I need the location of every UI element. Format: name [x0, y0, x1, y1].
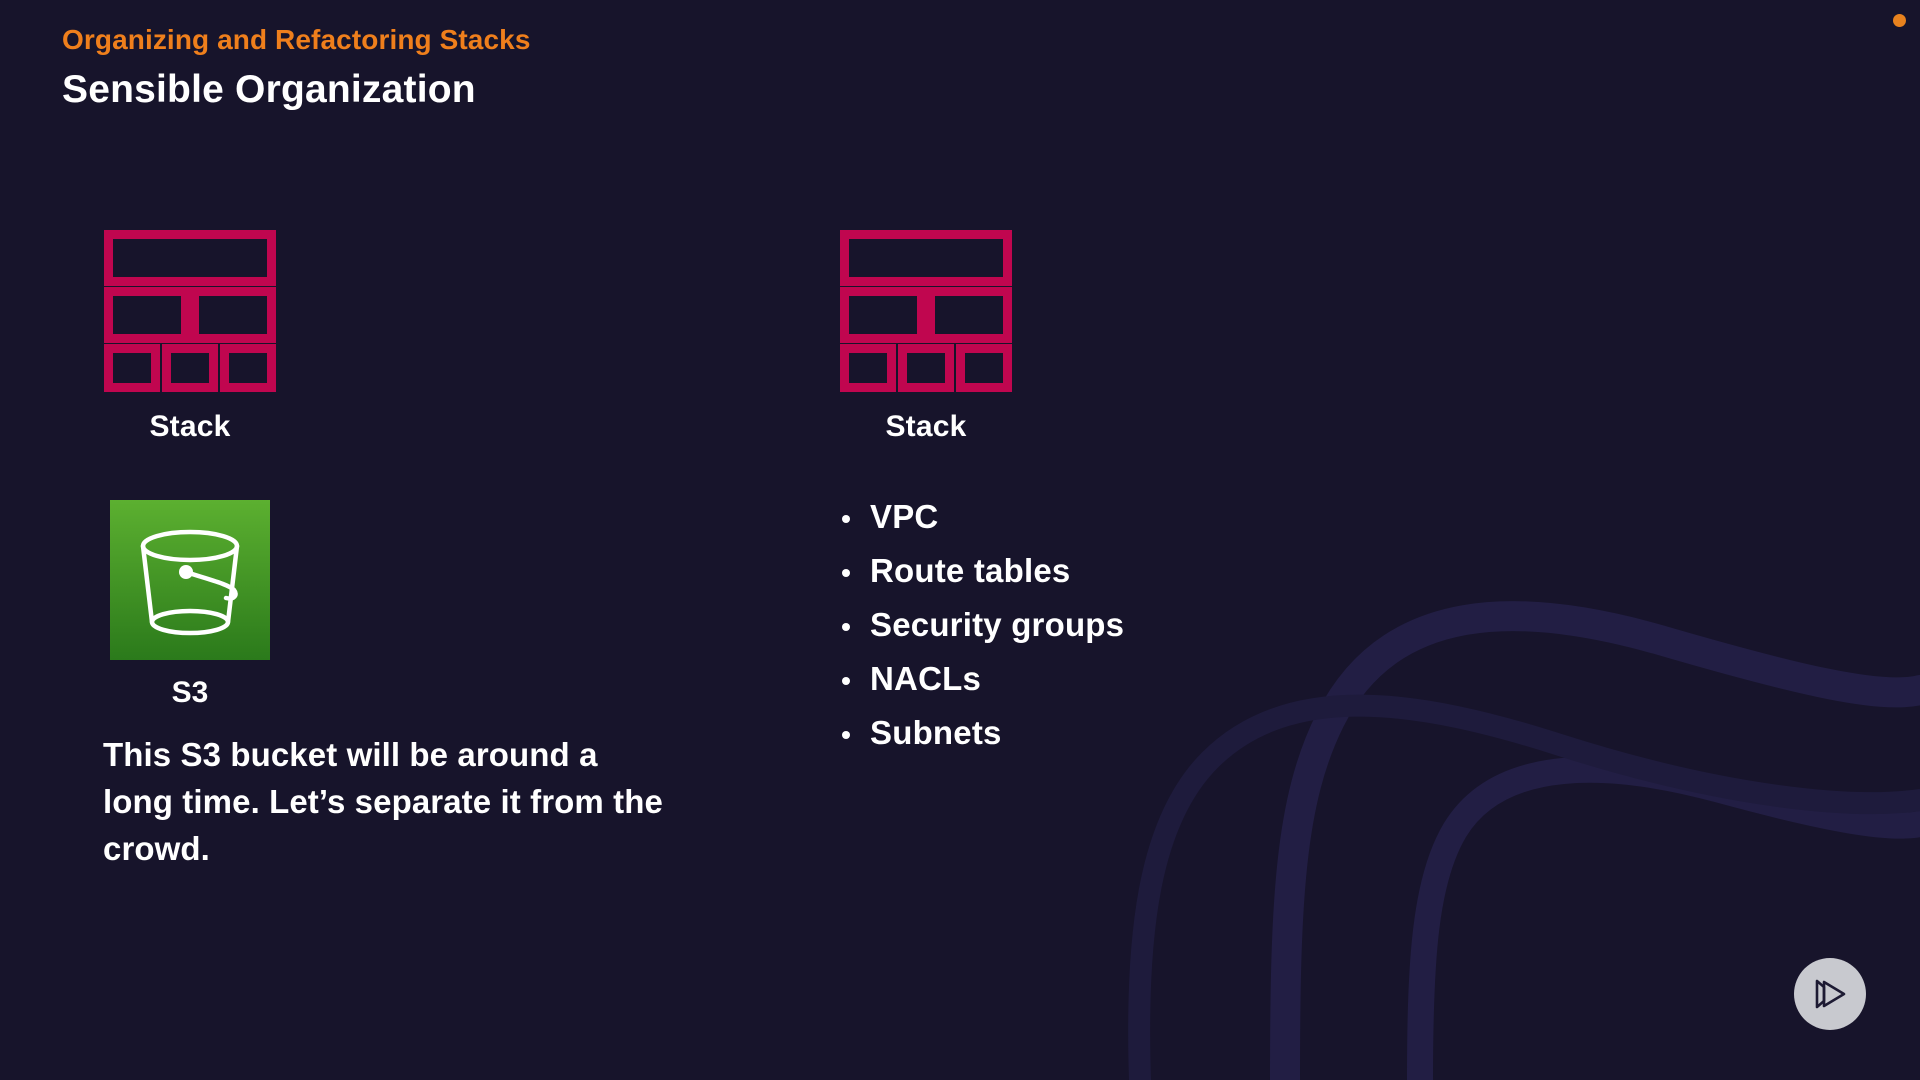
slide-header: Organizing and Refactoring Stacks Sensib… — [62, 22, 531, 115]
play-button[interactable] — [1794, 958, 1866, 1030]
body-paragraph: This S3 bucket will be around a long tim… — [103, 732, 673, 873]
list-item: Route tables — [840, 554, 1500, 587]
status-dot-icon — [1893, 14, 1906, 27]
page-title: Sensible Organization — [62, 66, 531, 115]
s3-bucket-icon — [110, 500, 270, 660]
right-stack-figure: Stack — [840, 230, 1012, 444]
resource-bullet-list: VPC Route tables Security groups NACLs S… — [840, 500, 1500, 749]
list-item: VPC — [840, 500, 1500, 533]
left-column: Stack S3 — [104, 230, 724, 873]
list-item: Subnets — [840, 716, 1500, 749]
s3-figure: S3 — [104, 500, 276, 710]
play-forward-icon — [1811, 977, 1849, 1011]
stack-icon — [840, 230, 1012, 392]
right-column: Stack VPC Route tables Security groups N… — [840, 230, 1500, 770]
left-stack-figure: Stack — [104, 230, 276, 444]
list-item: Security groups — [840, 608, 1500, 641]
presentation-slide: Organizing and Refactoring Stacks Sensib… — [0, 0, 1920, 1080]
list-item: NACLs — [840, 662, 1500, 695]
stack-icon — [104, 230, 276, 392]
left-stack-caption: Stack — [104, 410, 276, 444]
eyebrow-title: Organizing and Refactoring Stacks — [62, 22, 531, 57]
s3-caption: S3 — [104, 676, 276, 710]
right-stack-caption: Stack — [840, 410, 1012, 444]
